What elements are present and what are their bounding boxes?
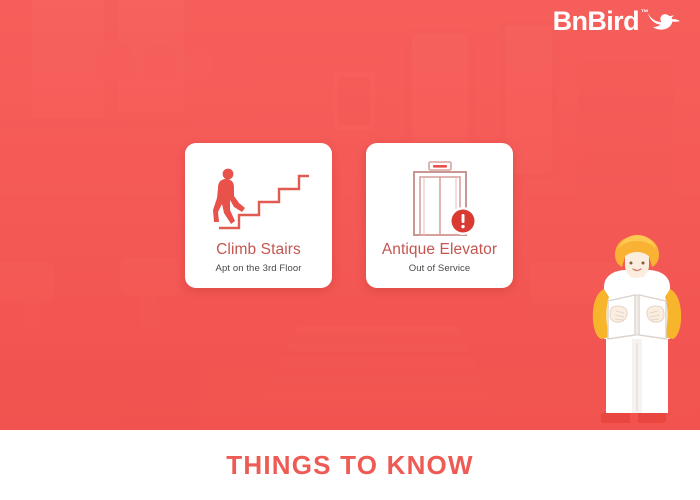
- card-subtitle: Apt on the 3rd Floor: [216, 263, 302, 274]
- card-climb-stairs[interactable]: Climb Stairs Apt on the 3rd Floor: [185, 143, 332, 288]
- card-subtitle: Out of Service: [409, 263, 471, 274]
- card-antique-elevator[interactable]: Antique Elevator Out of Service: [366, 143, 513, 288]
- elevator-icon: [366, 163, 513, 235]
- brand-name-text: BnBird: [553, 6, 639, 36]
- trademark-symbol: ™: [641, 9, 648, 17]
- page-title: THINGS TO KNOW: [226, 450, 473, 481]
- warning-badge: [449, 207, 477, 235]
- person-reading-book-illustration: [582, 235, 692, 430]
- stairs-climbing-icon: [185, 163, 332, 235]
- card-title: Climb Stairs: [216, 241, 301, 258]
- footer-section: THINGS TO KNOW: [0, 430, 700, 500]
- screenshot-root: BnBird ™: [0, 0, 700, 500]
- bird-icon: [646, 11, 680, 33]
- hero-banner: BnBird ™: [0, 0, 700, 430]
- card-title: Antique Elevator: [382, 241, 497, 258]
- brand-wordmark: BnBird ™: [553, 8, 639, 35]
- brand-logo[interactable]: BnBird ™: [553, 8, 680, 35]
- info-card-list: Climb Stairs Apt on the 3rd Floor: [185, 143, 513, 288]
